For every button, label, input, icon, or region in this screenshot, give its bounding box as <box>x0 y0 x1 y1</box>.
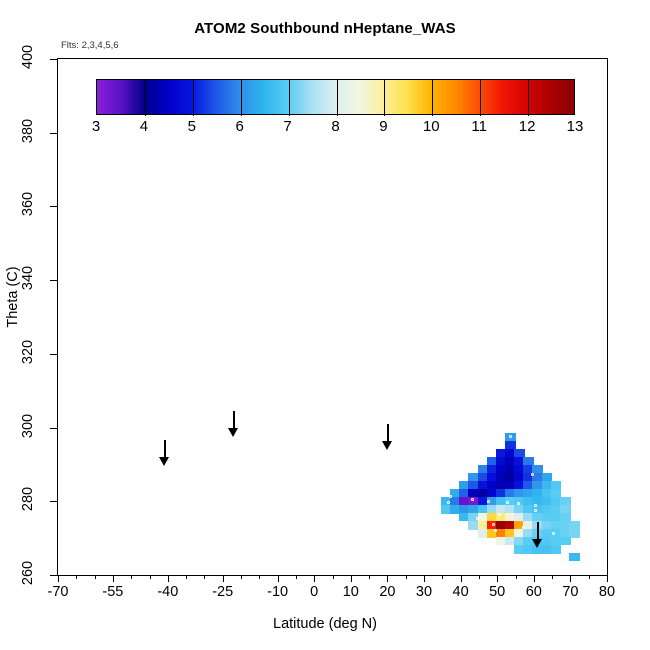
x-tick-label: 30 <box>416 584 432 600</box>
y-tick-label: 280 <box>20 482 36 516</box>
x-major-tick <box>424 575 425 582</box>
colorbar-tick-label: 13 <box>567 118 584 135</box>
sample-marker <box>534 504 537 507</box>
y-tick-label: 320 <box>20 335 36 369</box>
y-major-tick <box>50 354 57 355</box>
x-tick-label: 50 <box>489 584 505 600</box>
x-tick-label: -25 <box>212 584 233 600</box>
down-arrow-icon <box>158 440 171 466</box>
x-minor-tick <box>552 575 553 579</box>
x-minor-tick <box>406 575 407 579</box>
arrow-head <box>532 539 542 548</box>
x-tick-label: 70 <box>562 584 578 600</box>
colorbar-tick-label: 6 <box>236 118 244 135</box>
arrow-head <box>382 441 392 450</box>
x-major-tick <box>497 575 498 582</box>
sample-marker <box>447 501 450 504</box>
x-tick-label: -55 <box>102 584 123 600</box>
x-minor-tick <box>150 575 151 579</box>
x-minor-tick <box>186 575 187 579</box>
colorbar-tick <box>528 80 529 116</box>
x-major-tick <box>387 575 388 582</box>
y-tick-label: 380 <box>20 114 36 148</box>
y-major-tick <box>50 206 57 207</box>
colorbar <box>96 79 575 115</box>
x-minor-tick <box>131 575 132 579</box>
arrow-shaft <box>387 424 389 442</box>
y-tick-label: 260 <box>20 556 36 590</box>
y-major-tick <box>50 575 57 576</box>
x-minor-tick <box>95 575 96 579</box>
down-arrow-icon <box>227 411 240 437</box>
down-arrow-icon <box>531 522 544 548</box>
arrow-head <box>228 428 238 437</box>
y-major-tick <box>50 501 57 502</box>
colorbar-tick <box>384 80 385 116</box>
x-minor-tick <box>516 575 517 579</box>
x-tick-label: 20 <box>379 584 395 600</box>
flights-annotation: Flts: 2,3,4,5,6 <box>61 40 119 51</box>
chart-canvas: ATOM2 Southbound nHeptane_WAS Flts: 2,3,… <box>0 0 650 650</box>
colorbar-tick <box>337 80 338 116</box>
y-major-tick <box>50 133 57 134</box>
x-tick-label: 80 <box>599 584 615 600</box>
y-axis-title: Theta (C) <box>5 247 21 347</box>
colorbar-gradient <box>96 79 575 115</box>
colorbar-tick-label: 12 <box>519 118 536 135</box>
x-major-tick <box>314 575 315 582</box>
colorbar-fill <box>97 80 574 114</box>
x-tick-label: 60 <box>526 584 542 600</box>
colorbar-tick-label: 4 <box>140 118 148 135</box>
plot-area <box>58 59 607 575</box>
x-major-tick <box>534 575 535 582</box>
y-tick-label: 400 <box>20 40 36 74</box>
chart-title: ATOM2 Southbound nHeptane_WAS <box>0 20 650 37</box>
heatmap-cell <box>569 529 580 538</box>
sample-marker <box>449 495 452 498</box>
x-major-tick <box>113 575 114 582</box>
x-major-tick <box>607 575 608 582</box>
colorbar-tick-label: 3 <box>92 118 100 135</box>
y-tick-label: 300 <box>20 409 36 443</box>
x-tick-label: 0 <box>310 584 318 600</box>
colorbar-tick-label: 8 <box>331 118 339 135</box>
sample-marker <box>494 529 497 532</box>
x-major-tick <box>570 575 571 582</box>
x-minor-tick <box>333 575 334 579</box>
plot-frame <box>57 58 608 576</box>
colorbar-tick <box>145 80 146 116</box>
y-major-tick <box>50 59 57 60</box>
sample-marker <box>506 501 509 504</box>
x-minor-tick <box>76 575 77 579</box>
colorbar-tick-label: 9 <box>379 118 387 135</box>
sample-marker <box>492 523 495 526</box>
x-minor-tick <box>442 575 443 579</box>
x-minor-tick <box>241 575 242 579</box>
y-tick-label: 340 <box>20 261 36 295</box>
sample-marker <box>517 502 520 505</box>
colorbar-tick <box>241 80 242 116</box>
colorbar-tick <box>432 80 433 116</box>
arrow-shaft <box>233 411 235 429</box>
x-major-tick <box>168 575 169 582</box>
colorbar-tick-label: 11 <box>471 118 487 135</box>
x-axis-title: Latitude (deg N) <box>0 616 650 632</box>
colorbar-tick-label: 5 <box>188 118 196 135</box>
y-tick-label: 360 <box>20 187 36 221</box>
x-minor-tick <box>204 575 205 579</box>
heatmap-cell <box>551 545 562 554</box>
sample-marker <box>498 513 501 516</box>
y-major-tick <box>50 280 57 281</box>
y-major-tick <box>50 428 57 429</box>
x-minor-tick <box>369 575 370 579</box>
x-minor-tick <box>259 575 260 579</box>
x-major-tick <box>461 575 462 582</box>
x-major-tick <box>223 575 224 582</box>
arrow-shaft <box>164 440 166 458</box>
arrow-shaft <box>537 522 539 540</box>
x-major-tick <box>58 575 59 582</box>
colorbar-tick-label: 7 <box>283 118 291 135</box>
colorbar-tick-label: 10 <box>423 118 440 135</box>
down-arrow-icon <box>381 424 394 450</box>
x-tick-label: 40 <box>453 584 469 600</box>
x-tick-label: -70 <box>48 584 69 600</box>
x-tick-label: -10 <box>267 584 288 600</box>
x-minor-tick <box>479 575 480 579</box>
colorbar-tick <box>289 80 290 116</box>
x-tick-label: -40 <box>157 584 178 600</box>
heatmap-cell <box>569 553 580 562</box>
colorbar-tick <box>193 80 194 116</box>
x-tick-label: 10 <box>343 584 359 600</box>
arrow-head <box>159 457 169 466</box>
x-minor-tick <box>296 575 297 579</box>
colorbar-tick <box>480 80 481 116</box>
x-minor-tick <box>589 575 590 579</box>
heatmap-cell <box>560 537 571 546</box>
x-major-tick <box>351 575 352 582</box>
x-major-tick <box>278 575 279 582</box>
